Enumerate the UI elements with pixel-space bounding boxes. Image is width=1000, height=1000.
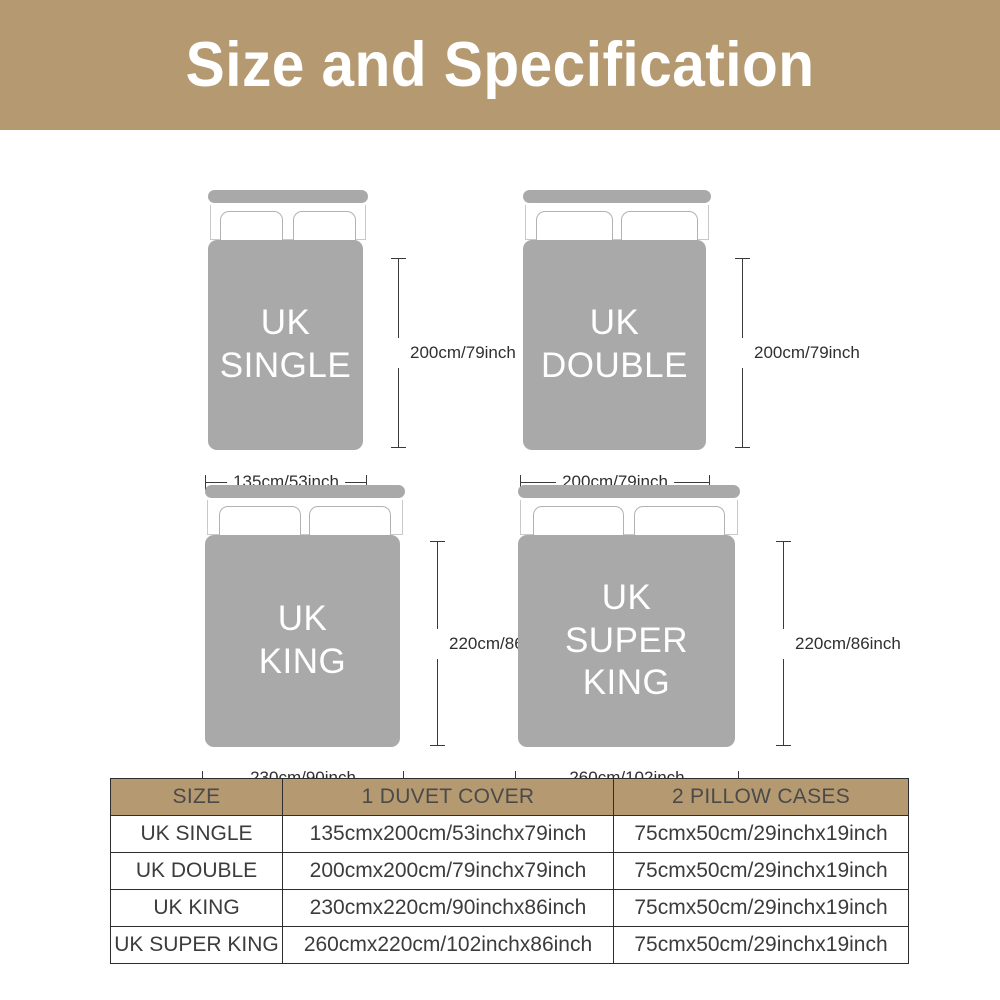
pillow-left [533,506,624,536]
pillow-zone [520,500,738,535]
table-header-row: SIZE 1 DUVET COVER 2 PILLOW CASES [111,779,909,816]
cell-pillow-cases: 75cmx50cm/29inchx19inch [614,816,909,853]
bed-label-line: DOUBLE [541,345,688,388]
dimension-label-height: 200cm/79inch [406,340,518,366]
table-header-size: SIZE [111,779,283,816]
bed-graphic: UK DOUBLE [523,190,711,460]
dimension-line-mask [780,629,788,659]
cell-size: UK SINGLE [111,816,283,853]
bed-label-line: SINGLE [220,345,351,388]
table-header-pillow-cases: 2 PILLOW CASES [614,779,909,816]
duvet-uk-single: UK SINGLE [208,240,363,450]
pillow-right [621,211,698,241]
pillow-left [536,211,613,241]
cell-size: UK SUPER KING [111,927,283,964]
bed-graphic: UK KING [205,485,405,755]
dimension-line-mask [395,338,403,368]
cell-pillow-cases: 75cmx50cm/29inchx19inch [614,853,909,890]
bed-label-line: UK [278,598,328,641]
dimension-cap-top [776,541,791,542]
table-row: UK SUPER KING 260cmx220cm/102inchx86inch… [111,927,909,964]
dimension-cap-bottom [430,745,445,746]
cell-pillow-cases: 75cmx50cm/29inchx19inch [614,890,909,927]
cell-duvet-cover: 135cmx200cm/53inchx79inch [283,816,614,853]
bed-graphic: UK SUPER KING [518,485,740,755]
bed-label-line: UK [261,302,311,345]
cell-size: UK KING [111,890,283,927]
specification-table: SIZE 1 DUVET COVER 2 PILLOW CASES UK SIN… [110,778,909,964]
headboard [205,485,405,498]
dimension-cap-top [735,258,750,259]
table-row: UK SINGLE 135cmx200cm/53inchx79inch 75cm… [111,816,909,853]
header-banner: Size and Specification [0,0,1000,130]
bed-label-line: KING [583,662,671,705]
dimension-cap-bottom [735,447,750,448]
headboard [518,485,740,498]
bed-figure-uk-double: UK DOUBLE 200cm/79inch 200cm/79inch [523,190,711,460]
duvet-uk-double: UK DOUBLE [523,240,706,450]
dimension-label-height: 200cm/79inch [750,340,862,366]
headboard [208,190,368,203]
pillow-right [309,506,391,536]
pillow-right [293,211,356,241]
table-header-duvet-cover: 1 DUVET COVER [283,779,614,816]
table-row: UK KING 230cmx220cm/90inchx86inch 75cmx5… [111,890,909,927]
dimension-cap-bottom [391,447,406,448]
cell-duvet-cover: 230cmx220cm/90inchx86inch [283,890,614,927]
dimension-cap-top [430,541,445,542]
dimension-cap-top [391,258,406,259]
bed-diagram-area: UK SINGLE 200cm/79inch 135cm/53inch [0,130,1000,770]
table-row: UK DOUBLE 200cmx200cm/79inchx79inch 75cm… [111,853,909,890]
page-title: Size and Specification [186,34,815,97]
cell-pillow-cases: 75cmx50cm/29inchx19inch [614,927,909,964]
pillow-zone [210,205,366,240]
bed-label-line: UK [590,302,640,345]
dimension-line-mask [739,338,747,368]
pillow-left [220,211,283,241]
dimension-label-height: 220cm/86inch [791,631,903,657]
bed-figure-uk-king: UK KING 220cm/86inch 230cm/90inch [205,485,405,755]
bed-graphic: UK SINGLE [208,190,368,460]
bed-label-line: UK [602,577,652,620]
duvet-uk-king: UK KING [205,535,400,747]
pillow-zone [207,500,403,535]
duvet-uk-super-king: UK SUPER KING [518,535,735,747]
bed-label-line: SUPER [565,620,688,663]
cell-size: UK DOUBLE [111,853,283,890]
cell-duvet-cover: 260cmx220cm/102inchx86inch [283,927,614,964]
pillow-zone [525,205,709,240]
pillow-left [219,506,301,536]
dimension-line-mask [434,629,442,659]
headboard [523,190,711,203]
pillow-right [634,506,725,536]
bed-figure-uk-super-king: UK SUPER KING 220cm/86inch 260cm/102inch [518,485,740,755]
bed-label-line: KING [259,641,347,684]
bed-figure-uk-single: UK SINGLE 200cm/79inch 135cm/53inch [208,190,368,460]
cell-duvet-cover: 200cmx200cm/79inchx79inch [283,853,614,890]
dimension-cap-bottom [776,745,791,746]
